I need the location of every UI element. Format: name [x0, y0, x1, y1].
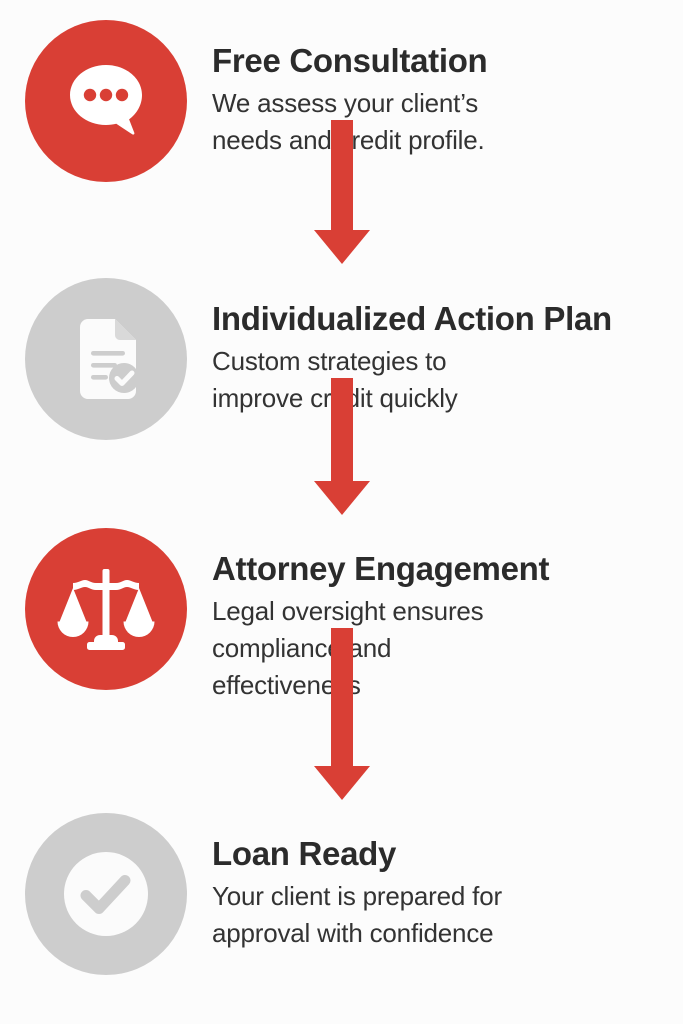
down-arrow-icon	[314, 766, 370, 800]
step-badge-column	[0, 813, 212, 975]
arrow-shaft	[331, 628, 353, 766]
step-title-line: Individualized	[212, 300, 426, 337]
step-description-line: approval with confidence	[212, 915, 659, 952]
step-description-line: effectiveness	[212, 667, 659, 704]
step-description: Legal oversight ensures compliance and e…	[212, 593, 659, 704]
document-check-icon	[60, 313, 152, 405]
step-badge-1	[25, 20, 187, 182]
step-description-line: needs and credit profile.	[212, 122, 659, 159]
step-description-line: compliance and	[212, 630, 659, 667]
connector-arrow-1	[314, 120, 370, 264]
step-badge-column	[0, 278, 212, 440]
speech-bubble-dots-icon	[58, 53, 154, 149]
arrow-shaft	[331, 120, 353, 230]
step-description-line: Your client is prepared for	[212, 878, 659, 915]
step-description: Your client is prepared for approval wit…	[212, 878, 659, 952]
step-text-column: Loan Ready Your client is prepared for a…	[212, 813, 683, 952]
step-text-column: Individualized Action Plan Custom strate…	[212, 278, 683, 417]
step-description-line: improve credit quickly	[212, 380, 659, 417]
step-title: Free Consultation	[212, 42, 659, 81]
step-badge-4	[25, 813, 187, 975]
check-circle-icon	[48, 836, 164, 952]
down-arrow-icon	[314, 481, 370, 515]
step-title: Attorney Engagement	[212, 550, 659, 589]
process-flow-infographic: Free Consultation We assess your client’…	[0, 0, 683, 1024]
step-item-loan-ready: Loan Ready Your client is prepared for a…	[0, 813, 683, 975]
step-description: Custom strategies to improve credit quic…	[212, 343, 659, 417]
step-title-line: Loan Ready	[212, 835, 396, 872]
step-badge-3	[25, 528, 187, 690]
step-badge-column	[0, 528, 212, 690]
step-text-column: Attorney Engagement Legal oversight ensu…	[212, 528, 683, 704]
step-title: Individualized Action Plan	[212, 300, 659, 339]
connector-arrow-3	[314, 628, 370, 800]
step-badge-2	[25, 278, 187, 440]
step-title-line: Attorney	[212, 550, 345, 587]
arrow-shaft	[331, 378, 353, 481]
step-description-line: Legal oversight ensures	[212, 593, 659, 630]
connector-arrow-2	[314, 378, 370, 515]
step-description-line: Custom strategies to	[212, 343, 659, 380]
step-title-line: Action Plan	[434, 300, 612, 337]
step-title-line: Free Consultation	[212, 42, 487, 79]
step-text-column: Free Consultation We assess your client’…	[212, 20, 683, 159]
step-description: We assess your client’s needs and credit…	[212, 85, 659, 159]
step-description-line: We assess your client’s	[212, 85, 659, 122]
step-title: Loan Ready	[212, 835, 659, 874]
down-arrow-icon	[314, 230, 370, 264]
step-title-line: Engagement	[354, 550, 549, 587]
scales-of-justice-icon	[56, 561, 156, 657]
step-badge-column	[0, 20, 212, 182]
